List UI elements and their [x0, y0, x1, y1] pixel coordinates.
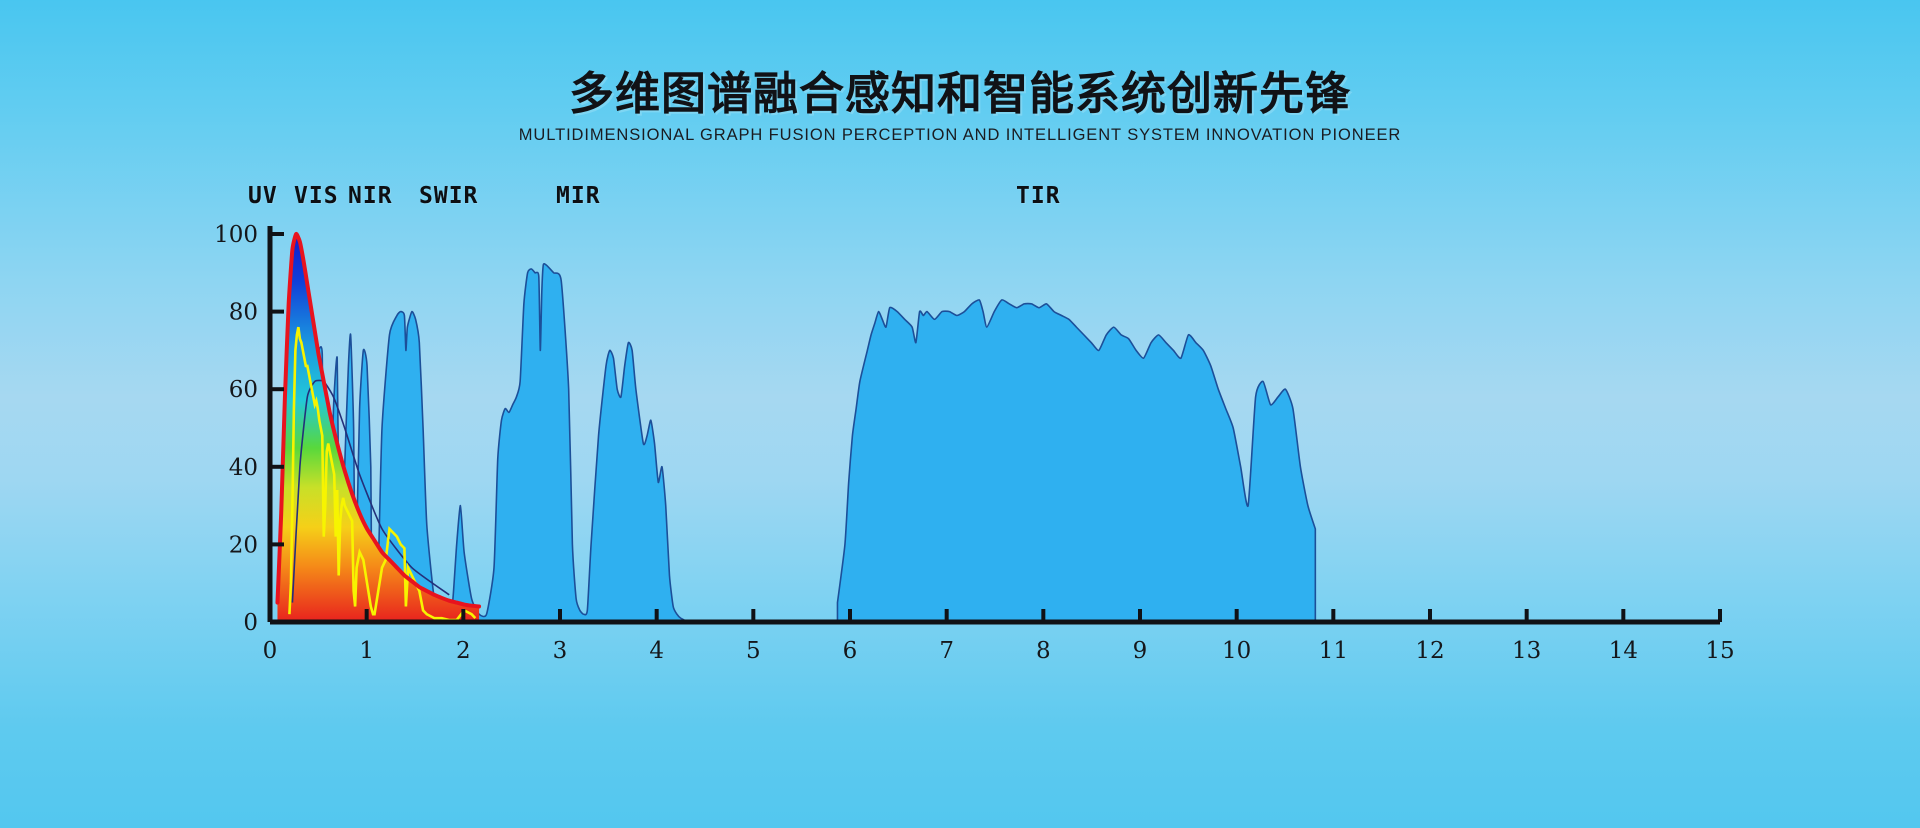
y-tick-label: 40 [229, 455, 258, 481]
x-tick-label: 11 [1319, 638, 1348, 664]
poster-root: 多维图谱融合感知和智能系统创新先锋 MULTIDIMENSIONAL GRAPH… [0, 0, 1920, 828]
x-tick-label: 0 [263, 638, 278, 664]
x-tick-label: 10 [1222, 638, 1251, 664]
x-axis-tick-labels: 0123456789101112131415 [263, 638, 1735, 664]
x-tick-label: 8 [1036, 638, 1051, 664]
x-tick-label: 7 [939, 638, 954, 664]
rainbow-band [270, 226, 487, 622]
x-tick-label: 6 [843, 638, 858, 664]
solar-rainbow-fill [270, 226, 487, 622]
x-tick-label: 9 [1133, 638, 1148, 664]
y-tick-label: 100 [214, 222, 258, 248]
y-axis-tick-labels: 020406080100 [214, 222, 258, 636]
y-tick-label: 80 [229, 300, 258, 326]
x-tick-label: 3 [553, 638, 568, 664]
spectrum-chart: 0123456789101112131415 020406080100 [0, 0, 1920, 828]
x-tick-label: 15 [1705, 638, 1734, 664]
x-tick-label: 2 [456, 638, 471, 664]
x-tick-label: 4 [649, 638, 664, 664]
x-tick-label: 12 [1415, 638, 1444, 664]
transmission-bands [292, 264, 1315, 622]
x-tick-label: 1 [359, 638, 374, 664]
x-tick-label: 13 [1512, 638, 1541, 664]
y-tick-label: 20 [229, 532, 258, 558]
y-tick-label: 60 [229, 377, 258, 403]
x-tick-label: 14 [1609, 638, 1638, 664]
x-tick-label: 5 [746, 638, 761, 664]
y-tick-label: 0 [243, 610, 258, 636]
transmission-window [837, 300, 1315, 622]
